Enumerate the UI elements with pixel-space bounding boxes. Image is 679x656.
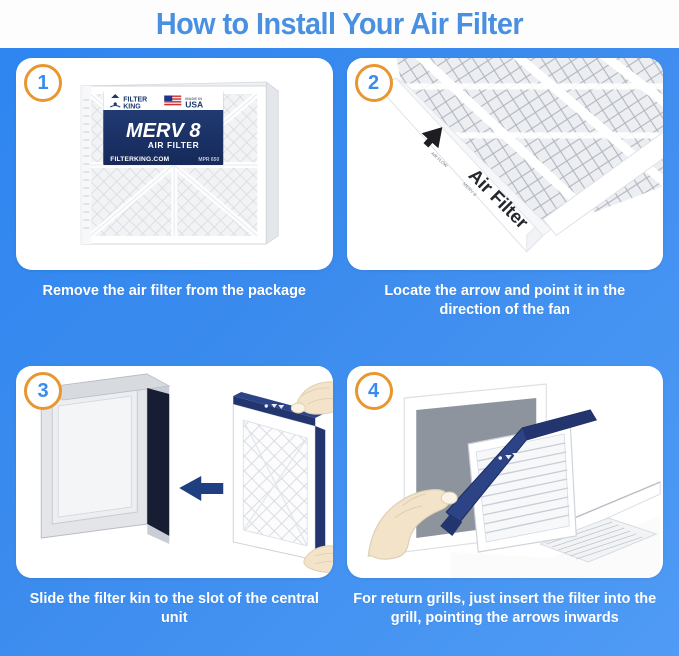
- boxed-air-filter-photo: FILTER KING: [16, 58, 333, 270]
- infographic-root: How to Install Your Air Filter 1: [0, 0, 679, 656]
- step-card-4: 4: [347, 366, 664, 578]
- steps-grid: 1: [0, 48, 679, 656]
- step-caption-3: Slide the filter kin to the slot of the …: [16, 590, 333, 628]
- step-card-2: 2: [347, 58, 664, 270]
- mpr-text: MPR 650: [198, 157, 219, 163]
- step-caption-2: Locate the arrow and point it in the dir…: [347, 282, 664, 320]
- filter-into-ceiling-return-grille: [347, 366, 664, 578]
- step-panel-1: 1: [16, 58, 333, 358]
- filter-type-text: AIR FILTER: [148, 140, 199, 150]
- step-panel-2: 2: [347, 58, 664, 358]
- step-card-3: 3: [16, 366, 333, 578]
- filter-brand-line2: KING: [123, 104, 141, 111]
- website-text: FILTERKING.COM: [110, 156, 169, 163]
- step-panel-4: 4: [347, 366, 664, 656]
- step-panel-3: 3: [16, 366, 333, 656]
- country-text: USA: [185, 100, 203, 110]
- step-badge-1: 1: [24, 64, 62, 102]
- step-badge-2: 2: [355, 64, 393, 102]
- merv-rating-text: MERV 8: [126, 120, 201, 142]
- step-card-1: 1: [16, 58, 333, 270]
- step-caption-1: Remove the air filter from the package: [16, 282, 333, 301]
- step-badge-3: 3: [24, 372, 62, 410]
- filter-corner-with-airflow-arrow: AIR FLOW Air Filter MERV 8: [347, 58, 664, 270]
- step-badge-4: 4: [355, 372, 393, 410]
- header: How to Install Your Air Filter: [0, 0, 679, 48]
- filter-sliding-into-central-unit: [16, 366, 333, 578]
- step-caption-4: For return grills, just insert the filte…: [347, 590, 664, 628]
- page-title: How to Install Your Air Filter: [156, 6, 523, 42]
